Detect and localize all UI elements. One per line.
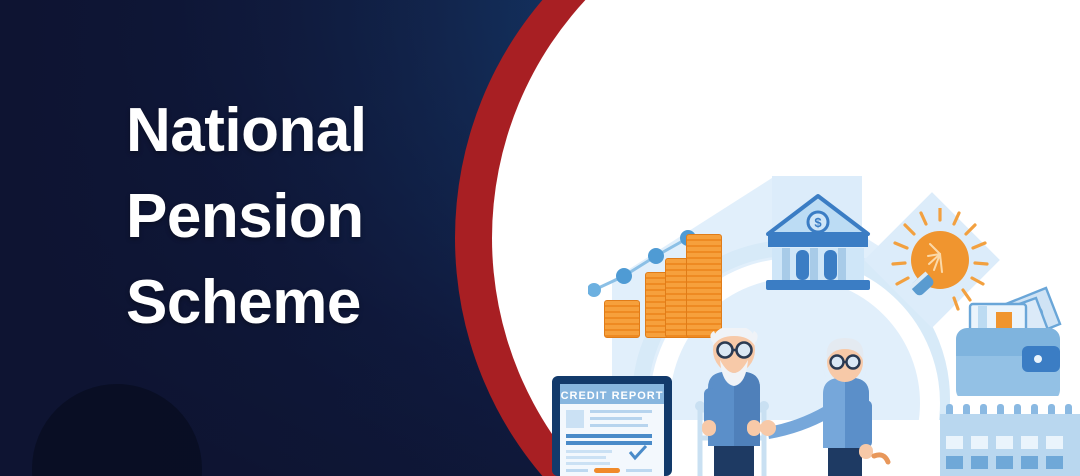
elderly-couple-illustration <box>690 328 900 476</box>
illustration: $ <box>0 0 1080 476</box>
bank-dollar-emblem: $ <box>814 215 822 230</box>
bank-building-icon: $ <box>760 190 876 296</box>
house-silhouette-mask-left <box>612 178 672 228</box>
elderly-woman <box>760 338 873 476</box>
credit-report-title: CREDIT REPORT <box>561 390 664 402</box>
credit-report-document: CREDIT REPORT <box>552 376 672 476</box>
suitcase-handle <box>874 455 888 462</box>
elderly-man <box>702 328 761 476</box>
wallet-icon <box>940 272 1072 396</box>
calendar-icon <box>940 404 1080 476</box>
pension-scheme-banner: National Pension Scheme <box>0 0 1080 476</box>
